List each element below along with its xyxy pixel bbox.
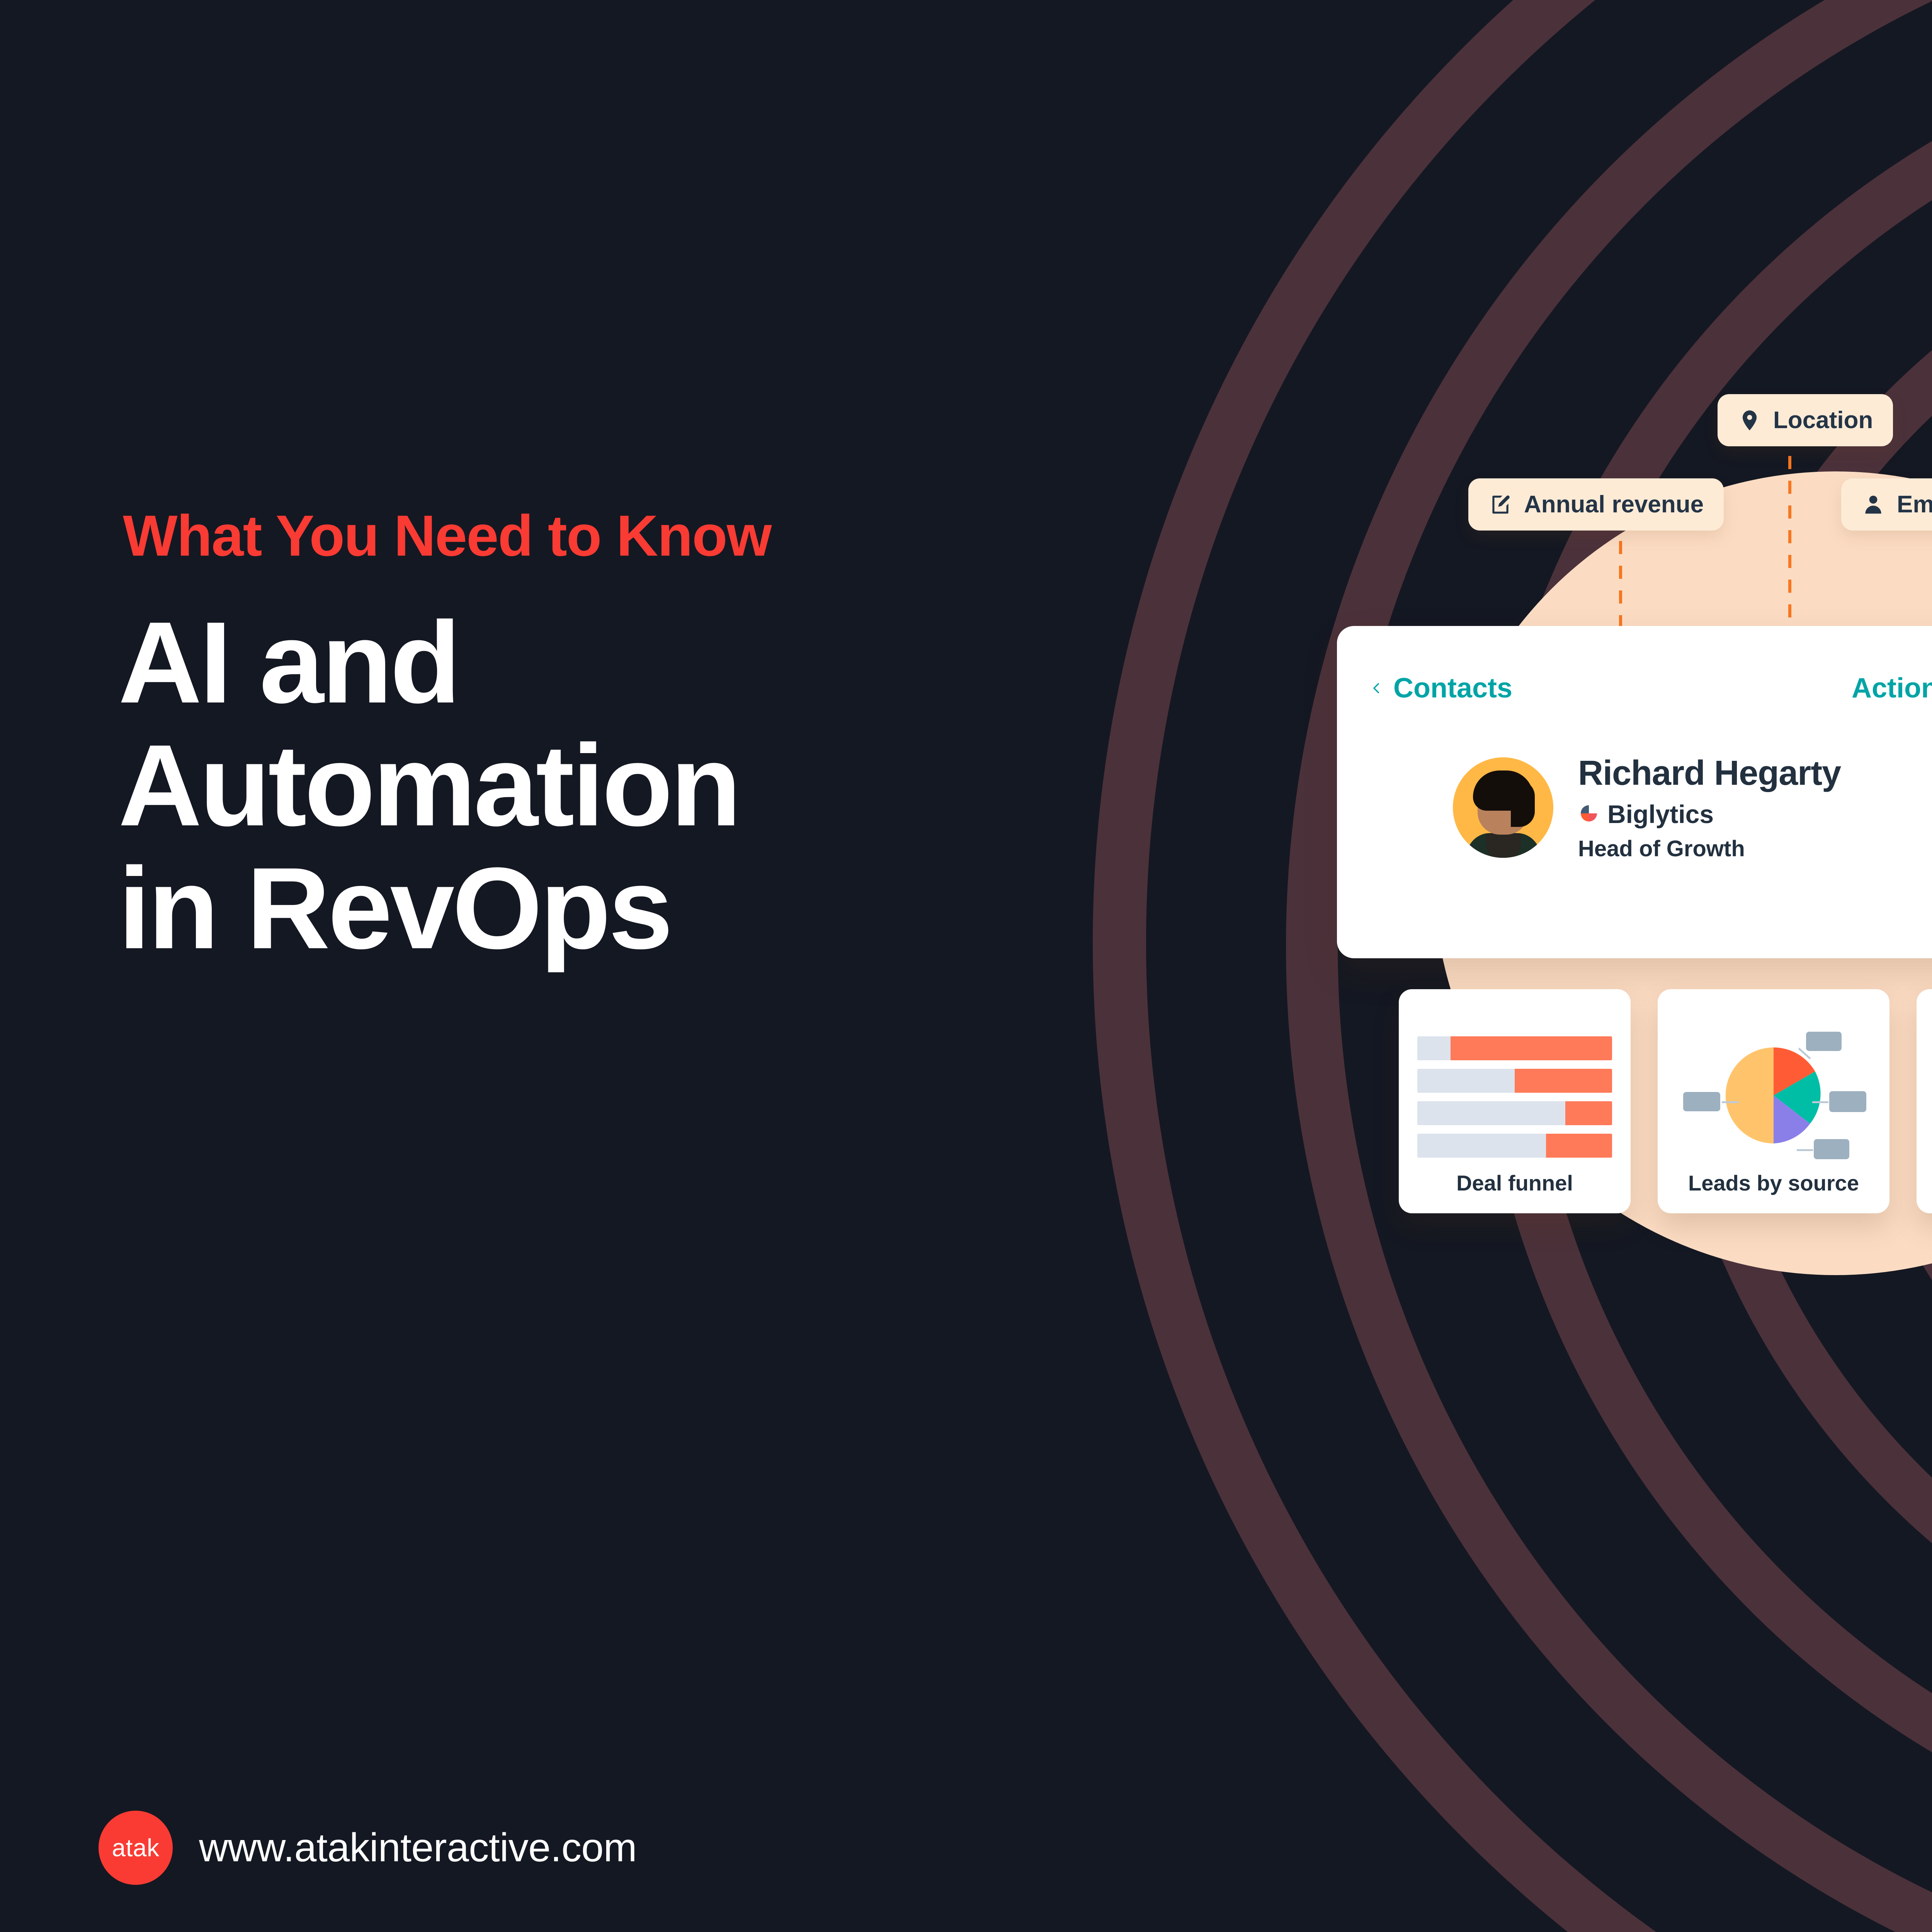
- chevron-left-icon: [1370, 682, 1383, 695]
- actions-menu[interactable]: Actions: [1852, 672, 1932, 704]
- pie-label-box-c: [1829, 1091, 1866, 1112]
- eyebrow-text: What You Need to Know: [123, 502, 771, 569]
- atak-logo: atak: [99, 1811, 173, 1885]
- poster-canvas: What You Need to Know AI and Automation …: [0, 0, 1932, 1932]
- website-url: www.atakinteractive.com: [199, 1825, 637, 1871]
- page-title: AI and Automation in RevOps: [118, 601, 739, 969]
- contact-company: Biglytics: [1578, 799, 1841, 829]
- headline-line-3: in RevOps: [118, 847, 739, 969]
- chart-card-tickets-closed[interactable]: Tickets closed: [1917, 989, 1932, 1213]
- funnel-grey-segment: [1417, 1069, 1515, 1093]
- product-illustration: Location Annual revenue Employee range C…: [1337, 340, 1932, 1538]
- funnel-orange-segment: [1546, 1134, 1612, 1158]
- footer: atak www.atakinteractive.com: [99, 1811, 637, 1885]
- avatar-collar: [1486, 834, 1521, 858]
- chart-card-deal-funnel[interactable]: Deal funnel: [1399, 989, 1631, 1213]
- actions-label: Actions: [1852, 672, 1932, 704]
- pie-leader-line-c: [1812, 1101, 1828, 1103]
- pie-leader-line-d: [1797, 1149, 1813, 1151]
- funnel-row: [1417, 1101, 1612, 1125]
- funnel-orange-segment: [1515, 1069, 1612, 1093]
- contact-details: Richard Hegarty Biglytics Head of Growth: [1578, 753, 1841, 862]
- funnel-row: [1417, 1134, 1612, 1158]
- funnel-row: [1417, 1069, 1612, 1093]
- chart-card-leads-by-source[interactable]: Leads by source: [1658, 989, 1889, 1213]
- funnel-grey-segment: [1417, 1134, 1546, 1158]
- contact-card-nav: Contacts Actions: [1370, 672, 1932, 704]
- contact-card: Contacts Actions Richard Hegarty: [1337, 626, 1932, 958]
- pill-location[interactable]: Location: [1718, 394, 1893, 446]
- pie-label-box-b: [1683, 1092, 1720, 1111]
- pill-location-label: Location: [1773, 406, 1873, 434]
- edit-note-icon: [1488, 493, 1512, 517]
- funnel-row: [1417, 1036, 1612, 1060]
- company-name: Biglytics: [1607, 799, 1714, 829]
- pill-annual-revenue[interactable]: Annual revenue: [1468, 478, 1724, 531]
- chart-caption: Deal funnel: [1456, 1170, 1573, 1196]
- funnel-orange-segment: [1451, 1036, 1612, 1060]
- deal-funnel-chart: [1417, 1036, 1612, 1158]
- connector-location: [1788, 456, 1791, 628]
- avatar-hair-side: [1511, 781, 1535, 827]
- pie-chart: [1721, 1043, 1826, 1148]
- contact-job-title: Head of Growth: [1578, 836, 1841, 862]
- biglytics-logo-icon: [1578, 803, 1600, 826]
- headline-line-1: AI and: [118, 601, 739, 724]
- pill-annual-revenue-label: Annual revenue: [1524, 491, 1704, 518]
- pie-label-box-a: [1806, 1032, 1842, 1051]
- logo-label: atak: [112, 1833, 160, 1862]
- avatar: [1453, 757, 1553, 858]
- map-pin-icon: [1738, 408, 1762, 432]
- contact-summary: Richard Hegarty Biglytics Head of Growth: [1453, 753, 1841, 862]
- funnel-orange-segment: [1565, 1101, 1612, 1125]
- pie-slice-d: [1726, 1048, 1774, 1143]
- pie-leader-line-b: [1722, 1101, 1739, 1103]
- pill-employee-range-label: Employee range: [1897, 491, 1932, 518]
- funnel-grey-segment: [1417, 1036, 1451, 1060]
- leads-by-source-chart: [1676, 1029, 1871, 1157]
- contact-name: Richard Hegarty: [1578, 753, 1841, 793]
- funnel-grey-segment: [1417, 1101, 1565, 1125]
- headline-line-2: Automation: [118, 724, 739, 847]
- back-to-contacts-button[interactable]: Contacts: [1370, 672, 1512, 704]
- connector-annual-revenue: [1619, 541, 1622, 628]
- contacts-link-label: Contacts: [1393, 672, 1512, 704]
- person-icon: [1861, 493, 1885, 517]
- pie-label-box-d: [1814, 1139, 1849, 1159]
- pill-employee-range[interactable]: Employee range: [1841, 478, 1932, 531]
- chart-caption: Leads by source: [1688, 1170, 1859, 1196]
